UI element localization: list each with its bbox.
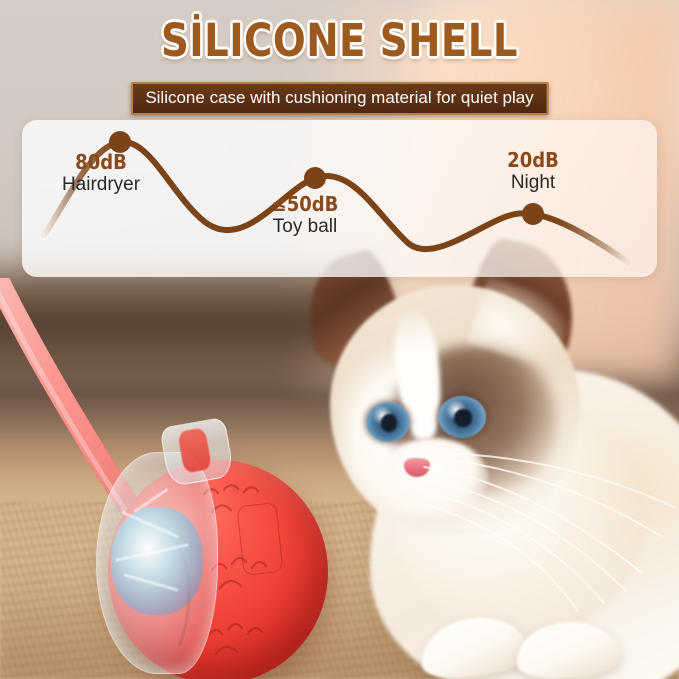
product-banner: SİLICONE SHELL Silicone case with cushio… — [0, 0, 679, 679]
cat-eye-right — [438, 396, 486, 438]
ball-led-module — [111, 507, 203, 615]
noise-label-toyball: ≤50dB Toy ball — [245, 194, 365, 238]
ball-collar-core — [177, 427, 212, 473]
cat-pupil-right — [454, 409, 471, 427]
noise-label-hairdryer: 80dB Hairdryer — [41, 152, 161, 196]
cat-whiskers — [390, 445, 679, 625]
noise-name-toyball: Toy ball — [245, 216, 365, 238]
noise-label-night: 20dB Night — [473, 150, 593, 194]
cat-pupil-left — [381, 414, 397, 432]
noise-name-hairdryer: Hairdryer — [41, 174, 161, 196]
cat-eye-left — [366, 402, 410, 442]
noise-value-hairdryer: 80dB — [47, 152, 155, 173]
subtitle-text: Silicone case with cushioning material f… — [145, 87, 533, 108]
subtitle-bar: Silicone case with cushioning material f… — [130, 82, 548, 115]
noise-name-night: Night — [473, 172, 593, 194]
ball-button-panel — [236, 502, 283, 576]
page-title: SİLICONE SHELL — [48, 18, 632, 63]
noise-value-toyball: ≤50dB — [251, 194, 359, 215]
toy-ball-product — [88, 408, 358, 679]
ball-transparent-window — [96, 452, 218, 674]
noise-value-night: 20dB — [479, 150, 587, 171]
